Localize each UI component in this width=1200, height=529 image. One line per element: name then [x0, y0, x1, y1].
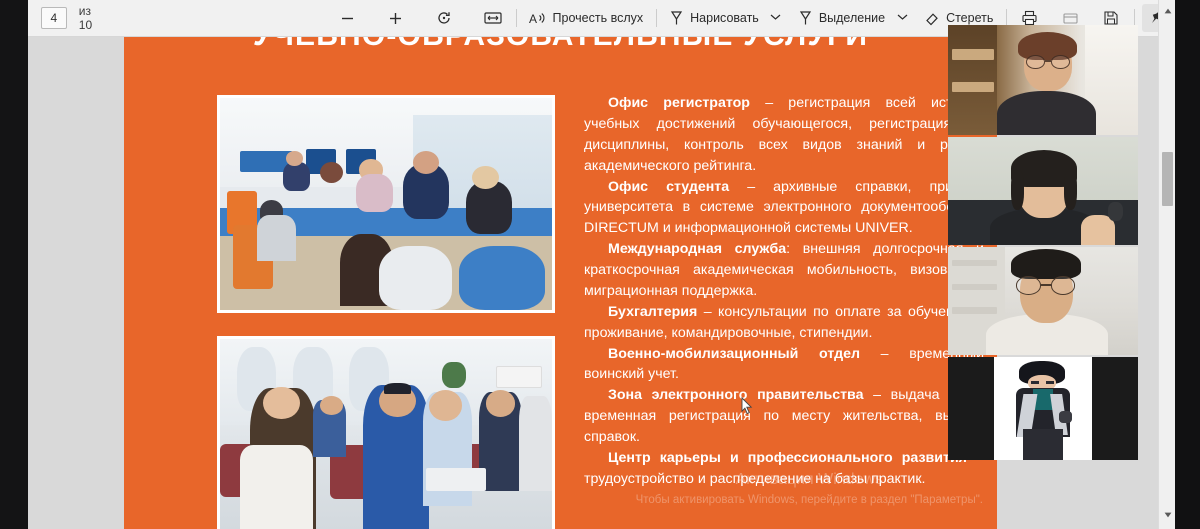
- read-aloud-label: Прочесть вслух: [553, 11, 644, 25]
- minus-icon: [340, 11, 355, 26]
- read-aloud-button[interactable]: A Прочесть вслух: [524, 4, 650, 32]
- rotate-button[interactable]: [429, 4, 459, 32]
- slide-paragraph-6: Зона электронного правительства – выдача…: [584, 385, 984, 448]
- scroll-down-arrow[interactable]: [1159, 506, 1176, 523]
- slide-photo-office: [217, 95, 555, 313]
- toolbar-left-group: 4 из 10: [28, 4, 101, 32]
- paragraph-3-lead: Международная служба: [608, 241, 786, 257]
- plus-icon: [388, 11, 403, 26]
- left-gutter: [0, 0, 28, 529]
- video-tile-participant-2[interactable]: [948, 137, 1138, 245]
- eraser-icon: [924, 11, 940, 26]
- scrollbar-thumb[interactable]: [1162, 152, 1173, 206]
- paragraph-7-lead: Центр карьеры и профессионального развит…: [608, 450, 967, 466]
- save-icon: [1103, 10, 1120, 26]
- slide-paragraph-2: Офис студента – архивные справки, приказ…: [584, 177, 984, 240]
- slide-paragraph-1: Офис регистратор – регистрация всей исто…: [584, 93, 984, 177]
- svg-text:A: A: [529, 12, 537, 26]
- fit-width-icon: [1062, 11, 1079, 26]
- draw-options-button[interactable]: [765, 4, 787, 32]
- slide-paragraph-5: Военно-мобилизационный отдел – временный…: [584, 344, 984, 386]
- highlight-options-button[interactable]: [891, 4, 913, 32]
- slide-photo-auditorium: [217, 336, 555, 529]
- paragraph-2-lead: Офис студента: [608, 179, 729, 195]
- toolbar-separator-2: [656, 9, 657, 27]
- printer-icon: [1021, 10, 1038, 26]
- video-tile-participant-3[interactable]: [948, 247, 1138, 355]
- fit-to-page-button[interactable]: [477, 4, 509, 32]
- participant-4-avatar-image: [994, 357, 1092, 460]
- right-gutter: [1175, 0, 1200, 529]
- rotate-icon: [436, 10, 452, 26]
- video-call-panel[interactable]: [948, 25, 1138, 460]
- watermark-subtitle: Чтобы активировать Windows, перейдите в …: [636, 493, 983, 507]
- page-count-label: из 10: [79, 4, 101, 32]
- photo-auditorium-content: [220, 339, 552, 529]
- screen: 4 из 10: [0, 0, 1200, 529]
- page-number-input[interactable]: 4: [41, 7, 67, 29]
- fit-page-icon: [484, 11, 502, 25]
- participant-1-feed: [948, 25, 1138, 135]
- zoom-out-button[interactable]: [333, 4, 363, 32]
- highlight-label: Выделение: [819, 11, 885, 25]
- erase-label: Стереть: [946, 11, 993, 25]
- zoom-in-button[interactable]: [381, 4, 411, 32]
- draw-label: Нарисовать: [690, 11, 759, 25]
- paragraph-6-lead: Зона электронного правительства: [608, 387, 863, 403]
- chevron-down-icon: [770, 13, 781, 23]
- scroll-up-arrow[interactable]: [1159, 2, 1176, 19]
- video-tile-participant-4[interactable]: [948, 357, 1138, 460]
- video-tile-participant-1[interactable]: [948, 25, 1138, 135]
- paragraph-5-lead: Военно-мобилизационный отдел: [608, 346, 860, 362]
- participant-4-feed: [948, 357, 1138, 460]
- photo-office-content: [220, 98, 552, 310]
- highlight-button[interactable]: Выделение: [793, 4, 891, 32]
- slide-paragraph-7: Центр карьеры и профессионального развит…: [584, 448, 984, 490]
- vertical-scrollbar[interactable]: [1158, 0, 1175, 529]
- mouse-cursor: [741, 397, 753, 416]
- read-aloud-icon: A: [529, 11, 547, 26]
- participant-3-feed: [948, 247, 1138, 355]
- pen-icon: [669, 10, 684, 26]
- toolbar-separator-1: [516, 9, 517, 27]
- slide-paragraph-3: Международная служба: внешняя долгосрочн…: [584, 239, 984, 302]
- slide-body-text: Офис регистратор – регистрация всей исто…: [584, 93, 984, 490]
- participant-2-feed: [948, 137, 1138, 245]
- slide-title: УЧЕБНО-ОБРАЗОВАТЕЛЬНЫЕ УСЛУГИ: [124, 37, 997, 53]
- paragraph-1-lead: Офис регистратор: [608, 95, 750, 111]
- paragraph-4-lead: Бухгалтерия: [608, 304, 697, 320]
- chevron-down-icon: [897, 13, 908, 23]
- draw-button[interactable]: Нарисовать: [664, 4, 765, 32]
- slide-paragraph-4: Бухгалтерия – консультации по оплате за …: [584, 302, 984, 344]
- presentation-slide: УЧЕБНО-ОБРАЗОВАТЕЛЬНЫЕ УСЛУГИ: [124, 37, 997, 529]
- highlighter-icon: [798, 10, 813, 26]
